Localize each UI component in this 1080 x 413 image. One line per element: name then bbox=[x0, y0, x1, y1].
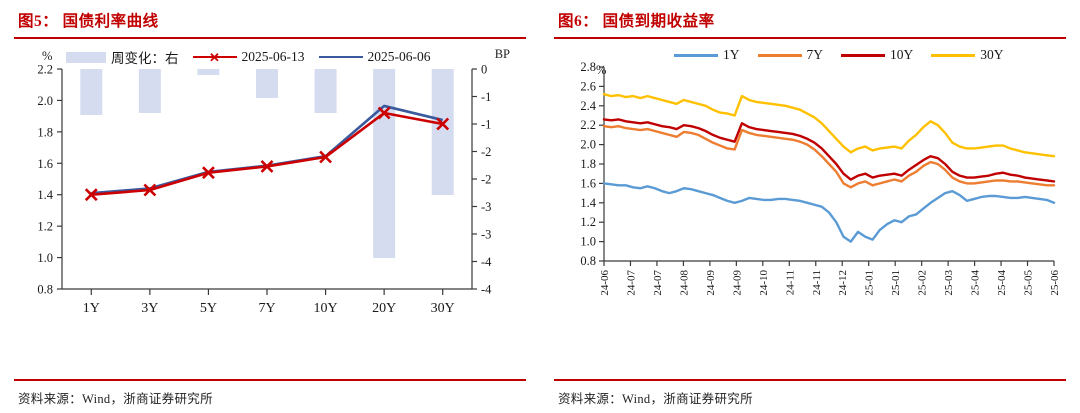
figure-5-plot: 0.81.01.21.41.61.82.02.20-1-1-2-2-3-3-4-… bbox=[14, 39, 526, 329]
svg-text:2.8: 2.8 bbox=[580, 60, 596, 74]
line-marker-swatch-icon: ✕ bbox=[193, 56, 237, 58]
svg-text:1.8: 1.8 bbox=[37, 125, 53, 139]
svg-text:1.8: 1.8 bbox=[580, 157, 596, 171]
legend-item-week-change[interactable]: 周变化：右 bbox=[66, 47, 179, 67]
figure-page: 图5： 国债利率曲线 周变化：右 ✕ 2025-06-13 2025-06-06… bbox=[0, 0, 1080, 413]
bar-3Y bbox=[139, 69, 161, 113]
svg-text:-1: -1 bbox=[481, 118, 491, 132]
svg-text:-3: -3 bbox=[481, 228, 491, 242]
bar-swatch-icon bbox=[66, 52, 106, 63]
svg-text:0: 0 bbox=[481, 63, 487, 77]
figure-5-footer: 资料来源：Wind，浙商证券研究所 bbox=[14, 379, 526, 407]
line-30Y bbox=[604, 94, 1054, 156]
line-swatch-10y-icon bbox=[841, 54, 885, 57]
xtick-7Y: 7Y bbox=[258, 301, 275, 316]
legend-label-0613: 2025-06-13 bbox=[242, 49, 305, 65]
bar-1Y bbox=[80, 69, 102, 115]
svg-text:1.4: 1.4 bbox=[37, 188, 53, 202]
svg-text:2.0: 2.0 bbox=[37, 94, 53, 108]
xtick-5Y: 5Y bbox=[200, 301, 217, 316]
line-1Y bbox=[604, 183, 1054, 241]
xtick-10Y: 10Y bbox=[314, 301, 338, 316]
xtick-25-04: 25-04 bbox=[970, 270, 982, 296]
line-swatch-1y-icon bbox=[674, 54, 718, 57]
svg-text:-2: -2 bbox=[481, 145, 491, 159]
bar-10Y bbox=[315, 69, 337, 113]
svg-text:2.6: 2.6 bbox=[580, 79, 596, 93]
xtick-25-06: 25-06 bbox=[1049, 270, 1061, 296]
xtick-24-09: 24-09 bbox=[731, 270, 743, 296]
legend-item-10y[interactable]: 10Y bbox=[841, 47, 913, 63]
svg-text:-4: -4 bbox=[481, 283, 492, 297]
svg-text:2.0: 2.0 bbox=[580, 138, 596, 152]
svg-text:1.2: 1.2 bbox=[580, 215, 596, 229]
legend-label-0606: 2025-06-06 bbox=[368, 49, 431, 65]
legend-item-30y[interactable]: 30Y bbox=[931, 47, 1003, 63]
svg-text:1.6: 1.6 bbox=[37, 157, 53, 171]
xtick-25-01: 25-01 bbox=[864, 270, 876, 296]
line-swatch-icon bbox=[319, 56, 363, 58]
xtick-24-09: 24-09 bbox=[705, 270, 717, 296]
xtick-25-01: 25-01 bbox=[890, 270, 902, 296]
legend-label-30y: 30Y bbox=[980, 47, 1003, 63]
legend-label-10y: 10Y bbox=[890, 47, 913, 63]
xtick-1Y: 1Y bbox=[83, 301, 100, 316]
svg-text:-1: -1 bbox=[481, 90, 491, 104]
figure-5-title: 图5： 国债利率曲线 bbox=[14, 0, 526, 37]
line-10Y bbox=[604, 119, 1054, 181]
svg-text:2.2: 2.2 bbox=[37, 63, 53, 77]
svg-text:-4: -4 bbox=[481, 255, 492, 269]
figure-6-legend: 1Y 7Y 10Y 30Y bbox=[674, 47, 1004, 63]
svg-text:0.8: 0.8 bbox=[37, 283, 53, 297]
bar-30Y bbox=[432, 69, 454, 195]
xtick-25-05: 25-05 bbox=[1023, 270, 1035, 296]
legend-label-week-change: 周变化：右 bbox=[111, 47, 179, 67]
xtick-30Y: 30Y bbox=[431, 301, 455, 316]
legend-item-0613[interactable]: ✕ 2025-06-13 bbox=[193, 49, 305, 65]
xtick-24-11: 24-11 bbox=[784, 270, 796, 295]
figure-5-chart: 周变化：右 ✕ 2025-06-13 2025-06-06 % BP 0.81.… bbox=[14, 39, 526, 357]
xtick-25-02: 25-02 bbox=[917, 270, 929, 296]
figure-6-footer: 资料来源：Wind，浙商证券研究所 bbox=[554, 379, 1066, 407]
legend-item-1y[interactable]: 1Y bbox=[674, 47, 740, 63]
line-swatch-30y-icon bbox=[931, 54, 975, 57]
xtick-3Y: 3Y bbox=[141, 301, 158, 316]
svg-text:0.8: 0.8 bbox=[580, 254, 596, 268]
svg-text:1.2: 1.2 bbox=[37, 220, 53, 234]
xtick-24-07: 24-07 bbox=[625, 270, 637, 296]
xtick-24-08: 24-08 bbox=[678, 270, 690, 296]
xtick-24-06: 24-06 bbox=[599, 270, 611, 296]
bar-5Y bbox=[197, 69, 219, 75]
figure-5-right-unit: BP bbox=[495, 47, 510, 62]
svg-text:2.4: 2.4 bbox=[580, 99, 596, 113]
figure-5-source: 资料来源：Wind，浙商证券研究所 bbox=[14, 381, 526, 407]
legend-item-7y[interactable]: 7Y bbox=[758, 47, 824, 63]
xtick-24-11: 24-11 bbox=[811, 270, 823, 295]
figure-panel-6: 图6： 国债到期收益率 1Y 7Y 10Y 30Y bbox=[540, 0, 1080, 413]
xtick-24-12: 24-12 bbox=[837, 270, 849, 296]
bar-20Y bbox=[373, 69, 395, 258]
svg-text:-2: -2 bbox=[481, 173, 491, 187]
figure-6-source: 资料来源：Wind，浙商证券研究所 bbox=[554, 381, 1066, 407]
svg-text:1.6: 1.6 bbox=[580, 176, 596, 190]
xtick-20Y: 20Y bbox=[372, 301, 396, 316]
bar-7Y bbox=[256, 69, 278, 98]
legend-label-7y: 7Y bbox=[807, 47, 824, 63]
legend-label-1y: 1Y bbox=[723, 47, 740, 63]
xtick-24-10: 24-10 bbox=[758, 270, 770, 296]
svg-text:2.2: 2.2 bbox=[580, 118, 596, 132]
xtick-25-04: 25-04 bbox=[996, 270, 1008, 296]
xtick-24-07: 24-07 bbox=[652, 270, 664, 296]
figure-6-left-unit: % bbox=[596, 63, 606, 78]
figure-panel-5: 图5： 国债利率曲线 周变化：右 ✕ 2025-06-13 2025-06-06… bbox=[0, 0, 540, 413]
legend-item-0606[interactable]: 2025-06-06 bbox=[319, 49, 431, 65]
figure-6-title: 图6： 国债到期收益率 bbox=[554, 0, 1066, 37]
svg-text:-3: -3 bbox=[481, 200, 491, 214]
figure-6-plot: 0.81.01.21.41.61.82.02.22.42.62.824-0624… bbox=[554, 39, 1066, 329]
line-swatch-7y-icon bbox=[758, 54, 802, 57]
xtick-25-03: 25-03 bbox=[943, 270, 955, 296]
figure-5-left-unit: % bbox=[42, 49, 52, 64]
svg-text:1.4: 1.4 bbox=[580, 196, 596, 210]
figure-5-legend: 周变化：右 ✕ 2025-06-13 2025-06-06 bbox=[66, 47, 431, 67]
svg-text:1.0: 1.0 bbox=[37, 251, 53, 265]
figure-6-chart: 1Y 7Y 10Y 30Y % 0.81.01.21.41.61.82.02.2… bbox=[554, 39, 1066, 357]
svg-text:1.0: 1.0 bbox=[580, 235, 596, 249]
